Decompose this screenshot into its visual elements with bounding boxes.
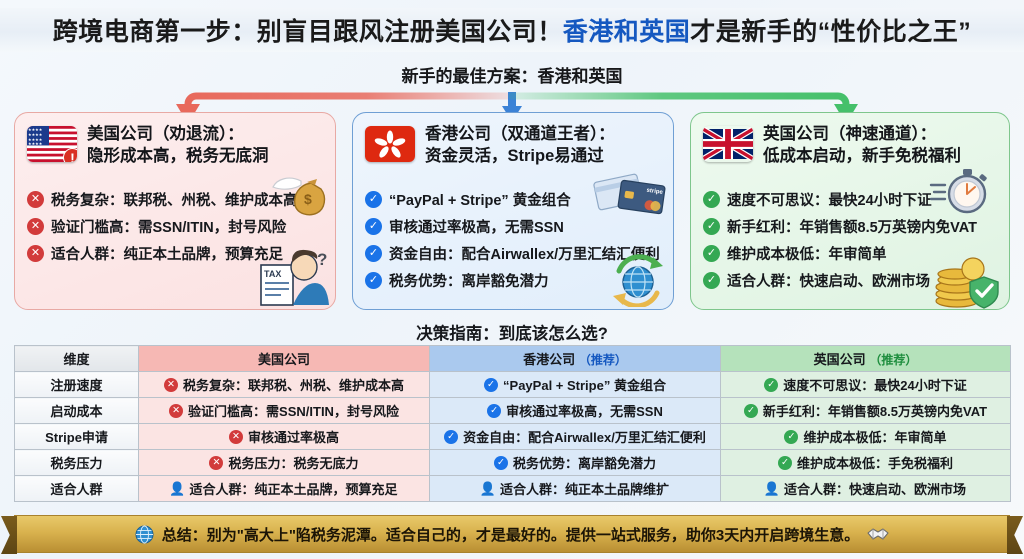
comparison-table: 维度 美国公司 香港公司 （推荐） 英国公司 （推荐） 注册速度 ✕税务复杂：联… [14, 345, 1011, 502]
card-uk-header: 英国公司（神速通道）： 低成本启动，新手免税福利 [703, 124, 997, 182]
check-icon: ✓ [703, 245, 720, 262]
arrow-right-path [512, 96, 846, 106]
cell-us: 👤适合人群：纯正本土品牌，预算充足 [139, 476, 430, 502]
page-title-bar: 跨境电商第一步：别盲目跟风注册美国公司！香港和英国才是新手的“性价比之王” [0, 8, 1024, 52]
check-icon: ✓ [484, 378, 498, 392]
check-icon: ✓ [744, 404, 758, 418]
card-hk-company[interactable]: 香港公司（双通道王者）： 资金灵活，Stripe易通过 ✓ “PayPal + … [352, 112, 674, 310]
cell-uk: 👤适合人群：快速启动、欧洲市场 [721, 476, 1011, 502]
table-header-dimension: 维度 [15, 346, 139, 372]
list-item: ✕ 验证门槛高：需SSN/ITIN，封号风险 [27, 213, 323, 240]
cell-text: 适合人群：纯正本土品牌维扩 [500, 479, 669, 498]
hong-kong-flag-icon [365, 126, 415, 162]
check-icon: ✓ [365, 272, 382, 289]
check-icon: ✓ [365, 245, 382, 262]
table-row: 税务压力 ✕税务压力：税务无底力 ✓税务优势：离岸豁免潜力 ✓维护成本极低：手免… [15, 450, 1011, 476]
cell-text: 税务优势：离岸豁免潜力 [513, 453, 656, 472]
cross-icon: ✕ [169, 404, 183, 418]
arrow-left-path [188, 96, 512, 106]
check-icon: ✓ [703, 272, 720, 289]
bullet-text: 税务复杂：联邦税、州税、维护成本高 [51, 189, 298, 210]
cell-us: ✕税务复杂：联邦税、州税、维护成本高 [139, 372, 430, 398]
card-hk-title-line1: 香港公司（双通道王者）： [425, 124, 615, 146]
table-header-uk-note: （推荐） [869, 353, 917, 367]
card-uk-bullets: ✓ 速度不可思议：最快24小时下证 ✓ 新手红利：年销售额8.5万英镑内免VAT… [703, 186, 997, 294]
card-us-bullets: ✕ 税务复杂：联邦税、州税、维护成本高 ✕ 验证门槛高：需SSN/ITIN，封号… [27, 186, 323, 267]
cell-uk: ✓维护成本极低：手免税福利 [721, 450, 1011, 476]
row-key: 注册速度 [15, 372, 139, 398]
card-uk-company[interactable]: 英国公司（神速通道）： 低成本启动，新手免税福利 ✓ 速度不可思议：最快24小时… [690, 112, 1010, 310]
table-header-hk-label: 香港公司 [523, 352, 575, 367]
cross-icon: ✕ [27, 191, 44, 208]
check-icon: ✓ [487, 404, 501, 418]
uk-flag-icon [703, 126, 753, 162]
row-key: 税务压力 [15, 450, 139, 476]
check-icon: ✓ [444, 430, 458, 444]
cell-text: 适合人群：纯正本土品牌，预算充足 [189, 479, 397, 498]
cross-icon: ✕ [229, 430, 243, 444]
cell-text: 适合人群：快速启动、欧洲市场 [784, 479, 966, 498]
globe-icon [135, 525, 154, 544]
table-header-hk: 香港公司 （推荐） [430, 346, 721, 372]
list-item: ✓ 维护成本极低：年审简单 [703, 240, 997, 267]
bullet-text: 税务优势：离岸豁免潜力 [389, 270, 549, 291]
table-header-us-label: 美国公司 [258, 352, 310, 367]
cross-icon: ✕ [164, 378, 178, 392]
warning-badge-icon: ! [63, 148, 77, 162]
cross-icon: ✕ [27, 218, 44, 235]
card-uk-title-line2: 低成本启动，新手免税福利 [763, 146, 961, 168]
cell-hk: ✓“PayPal + Stripe” 黄金组合 [430, 372, 721, 398]
row-key: Stripe申请 [15, 424, 139, 450]
check-icon: ✓ [365, 218, 382, 235]
row-key: 启动成本 [15, 398, 139, 424]
table-row: 适合人群 👤适合人群：纯正本土品牌，预算充足 👤适合人群：纯正本土品牌维扩 👤适… [15, 476, 1011, 502]
table-row: 启动成本 ✕验证门槛高：需SSN/ITIN，封号风险 ✓审核通过率极高，无需SS… [15, 398, 1011, 424]
check-icon: ✓ [784, 430, 798, 444]
list-item: ✓ 审核通过率极高，无需SSN [365, 213, 661, 240]
uk-flag-svg [703, 126, 753, 162]
bullet-text: 资金自由：配合Airwallex/万里汇结汇便利 [389, 243, 660, 264]
cell-hk: ✓资金自由：配合Airwallex/万里汇结汇便利 [430, 424, 721, 450]
card-us-title: 美国公司（劝退流）： 隐形成本高，税务无底洞 [87, 124, 269, 168]
list-item: ✓ 资金自由：配合Airwallex/万里汇结汇便利 [365, 240, 661, 267]
check-icon: ✓ [703, 191, 720, 208]
list-item: ✓ “PayPal + Stripe” 黄金组合 [365, 186, 661, 213]
person-icon: 👤 [765, 482, 779, 496]
bullet-text: “PayPal + Stripe” 黄金组合 [389, 189, 571, 210]
row-key: 适合人群 [15, 476, 139, 502]
country-cards: ★★★★★★★★★★★★★★★★ ! 美国公司（劝退流）： 隐形成本高，税务无底… [0, 112, 1024, 314]
list-item: ✓ 新手红利：年销售额8.5万英镑内免VAT [703, 213, 997, 240]
footer-banner: 总结：别为"高大上"陷税务泥潭。适合自己的，才是最好的。提供一站式服务，助你3天… [14, 515, 1010, 553]
check-icon: ✓ [778, 456, 792, 470]
card-us-header: ★★★★★★★★★★★★★★★★ ! 美国公司（劝退流）： 隐形成本高，税务无底… [27, 124, 323, 182]
table-header-uk: 英国公司 （推荐） [721, 346, 1011, 372]
cell-text: 审核通过率极高 [248, 427, 339, 446]
check-icon: ✓ [494, 456, 508, 470]
cell-us: ✕审核通过率极高 [139, 424, 430, 450]
cell-text: “PayPal + Stripe” 黄金组合 [503, 375, 666, 394]
person-icon: 👤 [170, 482, 184, 496]
table-row: 注册速度 ✕税务复杂：联邦税、州税、维护成本高 ✓“PayPal + Strip… [15, 372, 1011, 398]
cell-hk: ✓审核通过率极高，无需SSN [430, 398, 721, 424]
card-us-title-line2: 隐形成本高，税务无底洞 [87, 146, 269, 168]
bullet-text: 适合人群：纯正本土品牌，预算充足 [51, 243, 283, 264]
page-title-part3: 才是新手的“性价比之王” [690, 18, 971, 46]
cell-hk: ✓税务优势：离岸豁免潜力 [430, 450, 721, 476]
table-header-row: 维度 美国公司 香港公司 （推荐） 英国公司 （推荐） [15, 346, 1011, 372]
page-title-part1: 跨境电商第一步：别盲目跟风注册美国公司！ [53, 18, 563, 46]
bullet-text: 审核通过率极高，无需SSN [389, 216, 564, 237]
cell-text: 资金自由：配合Airwallex/万里汇结汇便利 [463, 427, 706, 446]
bullet-text: 适合人群：快速启动、欧洲市场 [727, 270, 930, 291]
cell-text: 审核通过率极高，无需SSN [506, 401, 663, 420]
cell-uk: ✓新手红利：年销售额8.5万英镑内免VAT [721, 398, 1011, 424]
cell-uk: ✓速度不可思议：最快24小时下证 [721, 372, 1011, 398]
cell-text: 税务复杂：联邦税、州税、维护成本高 [183, 375, 404, 394]
card-us-company[interactable]: ★★★★★★★★★★★★★★★★ ! 美国公司（劝退流）： 隐形成本高，税务无底… [14, 112, 336, 310]
svg-text:★★★★: ★★★★ [28, 141, 43, 146]
person-icon: 👤 [481, 482, 495, 496]
list-item: ✕ 适合人群：纯正本土品牌，预算充足 [27, 240, 323, 267]
card-hk-header: 香港公司（双通道王者）： 资金灵活，Stripe易通过 [365, 124, 661, 182]
cell-text: 速度不可思议：最快24小时下证 [783, 375, 966, 394]
svg-text:TAX: TAX [264, 269, 281, 279]
card-uk-title-line1: 英国公司（神速通道）： [763, 124, 961, 146]
cell-text: 维护成本极低：手免税福利 [797, 453, 953, 472]
check-icon: ✓ [764, 378, 778, 392]
cell-text: 税务压力：税务无底力 [228, 453, 358, 472]
table-header-uk-label: 英国公司 [814, 352, 866, 367]
card-us-title-line1: 美国公司（劝退流）： [87, 124, 269, 146]
page-title-highlight: 香港和英国 [563, 18, 691, 46]
us-flag-icon: ★★★★★★★★★★★★★★★★ ! [27, 126, 77, 162]
list-item: ✓ 速度不可思议：最快24小时下证 [703, 186, 997, 213]
hk-flag-svg [365, 126, 415, 162]
bullet-text: 维护成本极低：年审简单 [727, 243, 887, 264]
check-icon: ✓ [365, 191, 382, 208]
list-item: ✕ 税务复杂：联邦税、州税、维护成本高 [27, 186, 323, 213]
cell-uk: ✓维护成本极低：年审简单 [721, 424, 1011, 450]
page-title: 跨境电商第一步：别盲目跟风注册美国公司！香港和英国才是新手的“性价比之王” [53, 12, 972, 48]
check-icon: ✓ [703, 218, 720, 235]
card-uk-title: 英国公司（神速通道）： 低成本启动，新手免税福利 [763, 124, 961, 168]
cell-us: ✕验证门槛高：需SSN/ITIN，封号风险 [139, 398, 430, 424]
list-item: ✓ 适合人群：快速启动、欧洲市场 [703, 267, 997, 294]
table-heading: 决策指南：到底该怎么选? [0, 320, 1024, 344]
cross-icon: ✕ [209, 456, 223, 470]
cell-text: 验证门槛高：需SSN/ITIN，封号风险 [188, 401, 399, 420]
handshake-icon [867, 525, 889, 543]
list-item: ✓ 税务优势：离岸豁免潜力 [365, 267, 661, 294]
table-row: Stripe申请 ✕审核通过率极高 ✓资金自由：配合Airwallex/万里汇结… [15, 424, 1011, 450]
cell-us: ✕税务压力：税务无底力 [139, 450, 430, 476]
bullet-text: 速度不可思议：最快24小时下证 [727, 189, 932, 210]
cell-text: 新手红利：年销售额8.5万英镑内免VAT [763, 401, 987, 420]
card-hk-title: 香港公司（双通道王者）： 资金灵活，Stripe易通过 [425, 124, 615, 168]
card-hk-bullets: ✓ “PayPal + Stripe” 黄金组合 ✓ 审核通过率极高，无需SSN… [365, 186, 661, 294]
cell-hk: 👤适合人群：纯正本土品牌维扩 [430, 476, 721, 502]
table-header-us: 美国公司 [139, 346, 430, 372]
table-header-hk-note: （推荐） [579, 353, 627, 367]
cross-icon: ✕ [27, 245, 44, 262]
bullet-text: 新手红利：年销售额8.5万英镑内免VAT [727, 216, 977, 237]
footer-text: 总结：别为"高大上"陷税务泥潭。适合自己的，才是最好的。提供一站式服务，助你3天… [162, 524, 860, 545]
cell-text: 维护成本极低：年审简单 [803, 427, 946, 446]
bullet-text: 验证门槛高：需SSN/ITIN，封号风险 [51, 216, 286, 237]
card-hk-title-line2: 资金灵活，Stripe易通过 [425, 146, 615, 168]
